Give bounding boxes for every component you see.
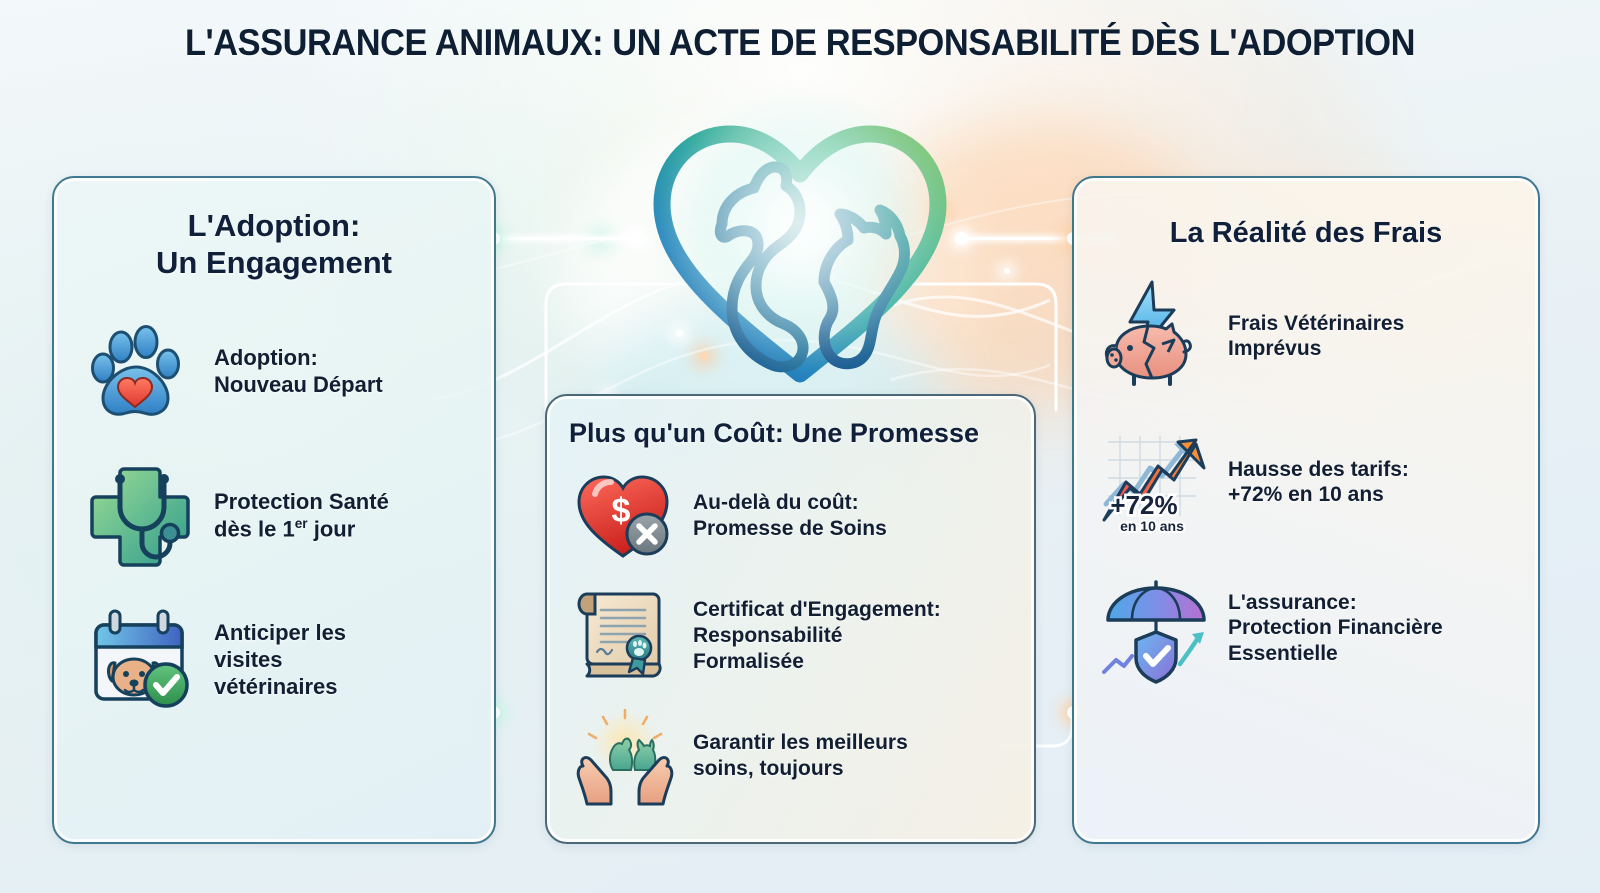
panel-adoption-items: Adoption: Nouveau Départ	[54, 317, 494, 715]
page-title: L'ASSURANCE ANIMAUX: UN ACTE DE RESPONSA…	[56, 22, 1544, 64]
panel-adoption-title: L'Adoption: Un Engagement	[54, 208, 494, 281]
connector-left-to-logo	[492, 237, 638, 240]
list-item: Anticiper les visites vétérinaires	[54, 605, 494, 715]
umbrella-shield-check-icon	[1100, 572, 1212, 684]
panel-adoption: L'Adoption: Un Engagement	[52, 176, 496, 844]
list-item-label: Frais Vétérinaires Imprévus	[1228, 311, 1404, 362]
connector-center-left-bracket	[518, 280, 718, 410]
list-item-label: L'assurance: Protection Financière Essen…	[1228, 590, 1443, 667]
connector-center-right-bracket	[884, 280, 1084, 410]
panel-frais-title: La Réalité des Frais	[1074, 216, 1538, 250]
broken-piggy-bank-lightning-icon	[1100, 280, 1212, 392]
list-item: Garantir les meilleurs soins, toujours	[547, 704, 1034, 808]
list-item-label: Garantir les meilleurs soins, toujours	[693, 730, 908, 781]
infographic-canvas: L'ASSURANCE ANIMAUX: UN ACTE DE RESPONSA…	[0, 0, 1600, 893]
heart-dollar-no-cost-icon: $	[573, 464, 677, 568]
panel-frais: La Réalité des Frais	[1072, 176, 1540, 844]
list-item: L'assurance: Protection Financière Essen…	[1074, 572, 1538, 684]
list-item: Adoption: Nouveau Départ	[54, 317, 494, 427]
hands-holding-dog-cat-icon	[573, 704, 677, 808]
medical-cross-stethoscope-icon	[88, 461, 198, 571]
panel-promesse-items: $ Au-delà du coût: Promesse de Soins	[547, 464, 1034, 808]
paw-heart-icon	[88, 317, 198, 427]
list-item-label: Hausse des tarifs: +72% en 10 ans	[1228, 457, 1409, 508]
list-item-label: Au-delà du coût: Promesse de Soins	[693, 490, 887, 541]
list-item-label: Protection Santé dès le 1er jour	[214, 489, 389, 543]
rising-cost-arrow-chart-icon: +72% en 10 ans	[1100, 426, 1212, 538]
list-item: +72% en 10 ans Hausse des tarifs: +72% e…	[1074, 426, 1538, 538]
list-item: Frais Vétérinaires Imprévus	[1074, 280, 1538, 392]
panel-promesse-title: Plus qu'un Coût: Une Promesse	[547, 418, 1034, 450]
arrow-badge-value: +72%	[1110, 490, 1177, 520]
list-item: Certificat d'Engagement: Responsabilité …	[547, 584, 1034, 688]
list-item-label: Anticiper les visites vétérinaires	[214, 620, 346, 700]
list-item: Protection Santé dès le 1er jour	[54, 461, 494, 571]
list-item-label: Certificat d'Engagement: Responsabilité …	[693, 597, 941, 674]
arrow-badge-caption: en 10 ans	[1120, 518, 1184, 534]
certificate-scroll-paw-seal-icon	[573, 584, 677, 688]
list-item: $ Au-delà du coût: Promesse de Soins	[547, 464, 1034, 568]
connector-node-left-logo	[631, 232, 644, 245]
panel-frais-items: Frais Vétérinaires Imprévus	[1074, 280, 1538, 684]
panel-promesse: Plus qu'un Coût: Une Promesse	[545, 394, 1036, 844]
connector-node-right-logo	[955, 232, 968, 245]
calendar-dog-check-icon	[88, 605, 198, 715]
svg-text:$: $	[612, 492, 631, 530]
list-item-label: Adoption: Nouveau Départ	[214, 345, 383, 399]
